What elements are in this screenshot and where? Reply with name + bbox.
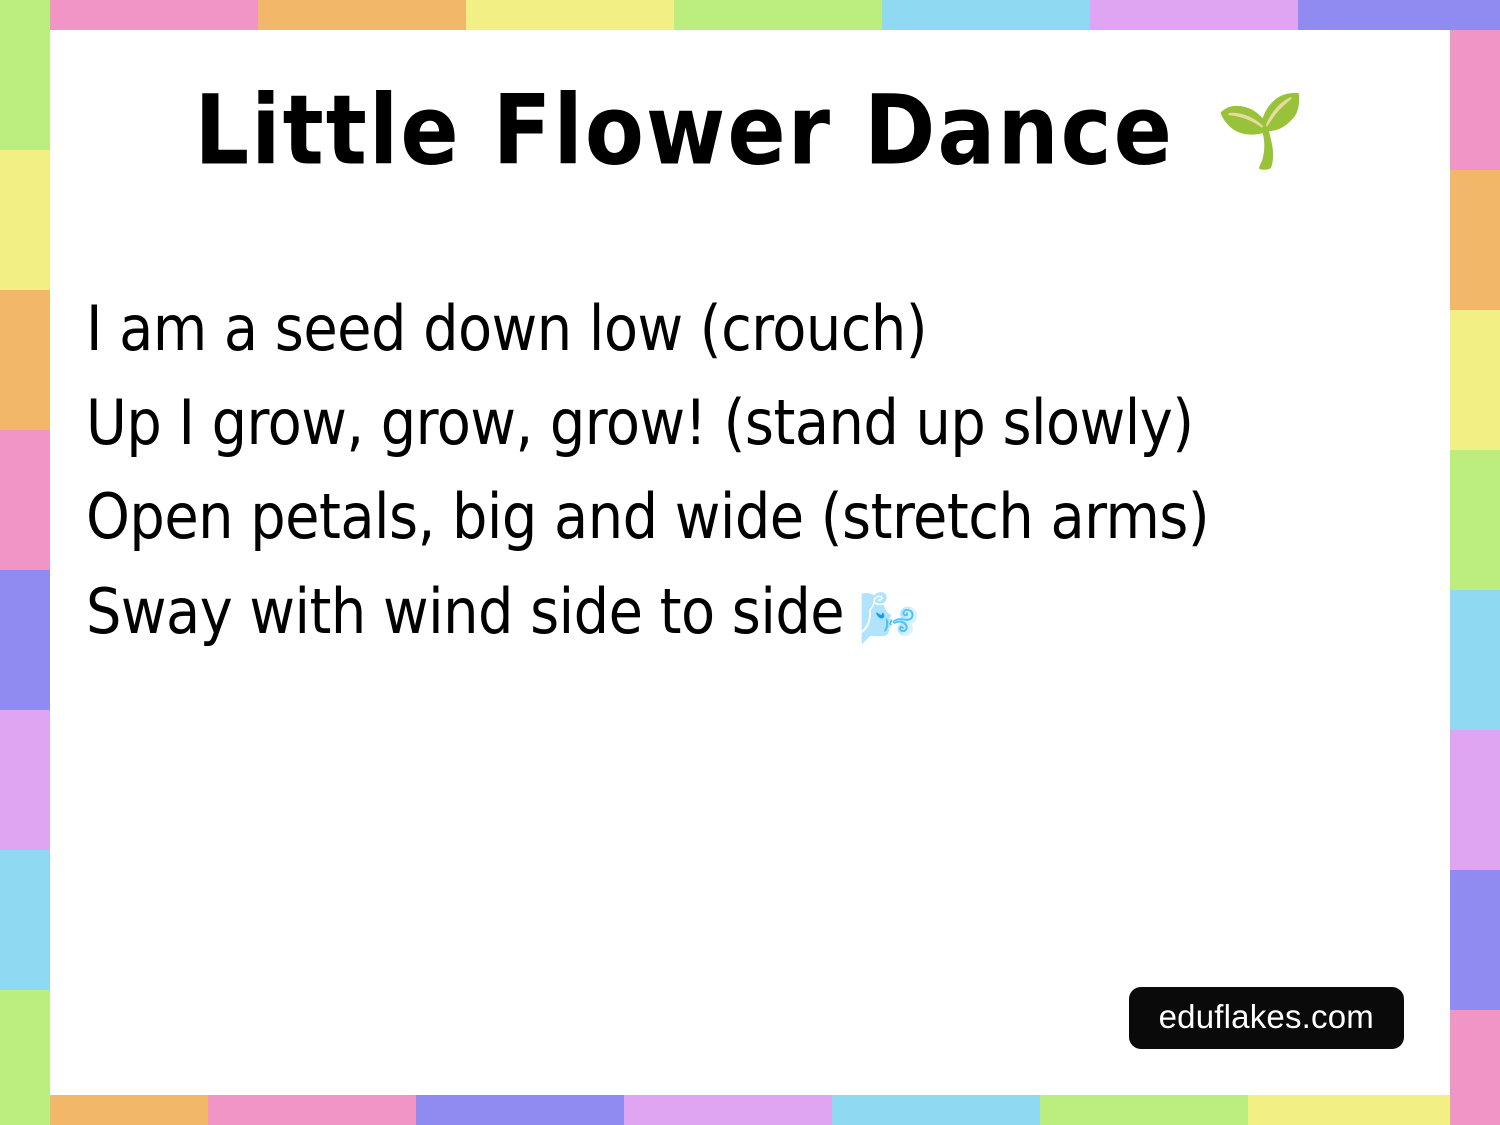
title-row: Little Flower Dance 🌱 [50,88,1450,174]
verse-line-4-text: Sway with wind side to side [86,575,844,648]
border-band [1450,30,1500,170]
flower-dance-poster: Little Flower Dance 🌱 I am a seed down l… [0,0,1500,1125]
verse-line-1-text: I am a seed down low (crouch) [86,292,927,365]
border-band [0,850,50,990]
border-band [674,0,882,30]
border-band [1450,730,1500,870]
border-band [1040,1095,1248,1125]
border-band [0,710,50,850]
watermark-badge[interactable]: eduflakes.com [1129,987,1404,1049]
border-band [1450,590,1500,730]
border-band [1450,170,1500,310]
border-band [0,290,50,430]
border-band [258,0,466,30]
border-band [1450,870,1500,1010]
verse-line-2-text: Up I grow, grow, grow! (stand up slowly) [86,386,1194,459]
border-band [50,0,258,30]
border-band [0,990,50,1125]
border-band [1090,0,1298,30]
verse-line-3: Open petals, big and wide (stretch arms) [86,470,1426,564]
border-band [0,570,50,710]
border-band [1248,1095,1450,1125]
border-band [1450,1010,1500,1125]
page-title: Little Flower Dance [194,83,1174,179]
verse-line-3-text: Open petals, big and wide (stretch arms) [86,480,1209,553]
verse-line-4: Sway with wind side to side🌬️ [86,565,1426,659]
border-band [624,1095,832,1125]
border-band [50,1095,208,1125]
border-band [1450,0,1500,30]
border-band [832,1095,1040,1125]
page-surface: Little Flower Dance 🌱 I am a seed down l… [50,30,1450,1095]
border-left [0,0,50,1125]
verse-line-2: Up I grow, grow, grow! (stand up slowly) [86,376,1426,470]
border-band [1450,450,1500,590]
border-top [0,0,1500,30]
border-band [0,430,50,570]
seedling-emoji: 🌱 [1216,95,1306,167]
verse-block: I am a seed down low (crouch) Up I grow,… [86,282,1426,659]
border-band [0,0,50,150]
wind-face-emoji: 🌬️ [858,589,920,647]
border-band [466,0,674,30]
border-bottom [0,1095,1500,1125]
border-band [882,0,1090,30]
verse-line-1: I am a seed down low (crouch) [86,282,1426,376]
border-band [0,150,50,290]
border-right [1450,0,1500,1125]
border-band [416,1095,624,1125]
border-band [1450,310,1500,450]
border-band [208,1095,416,1125]
